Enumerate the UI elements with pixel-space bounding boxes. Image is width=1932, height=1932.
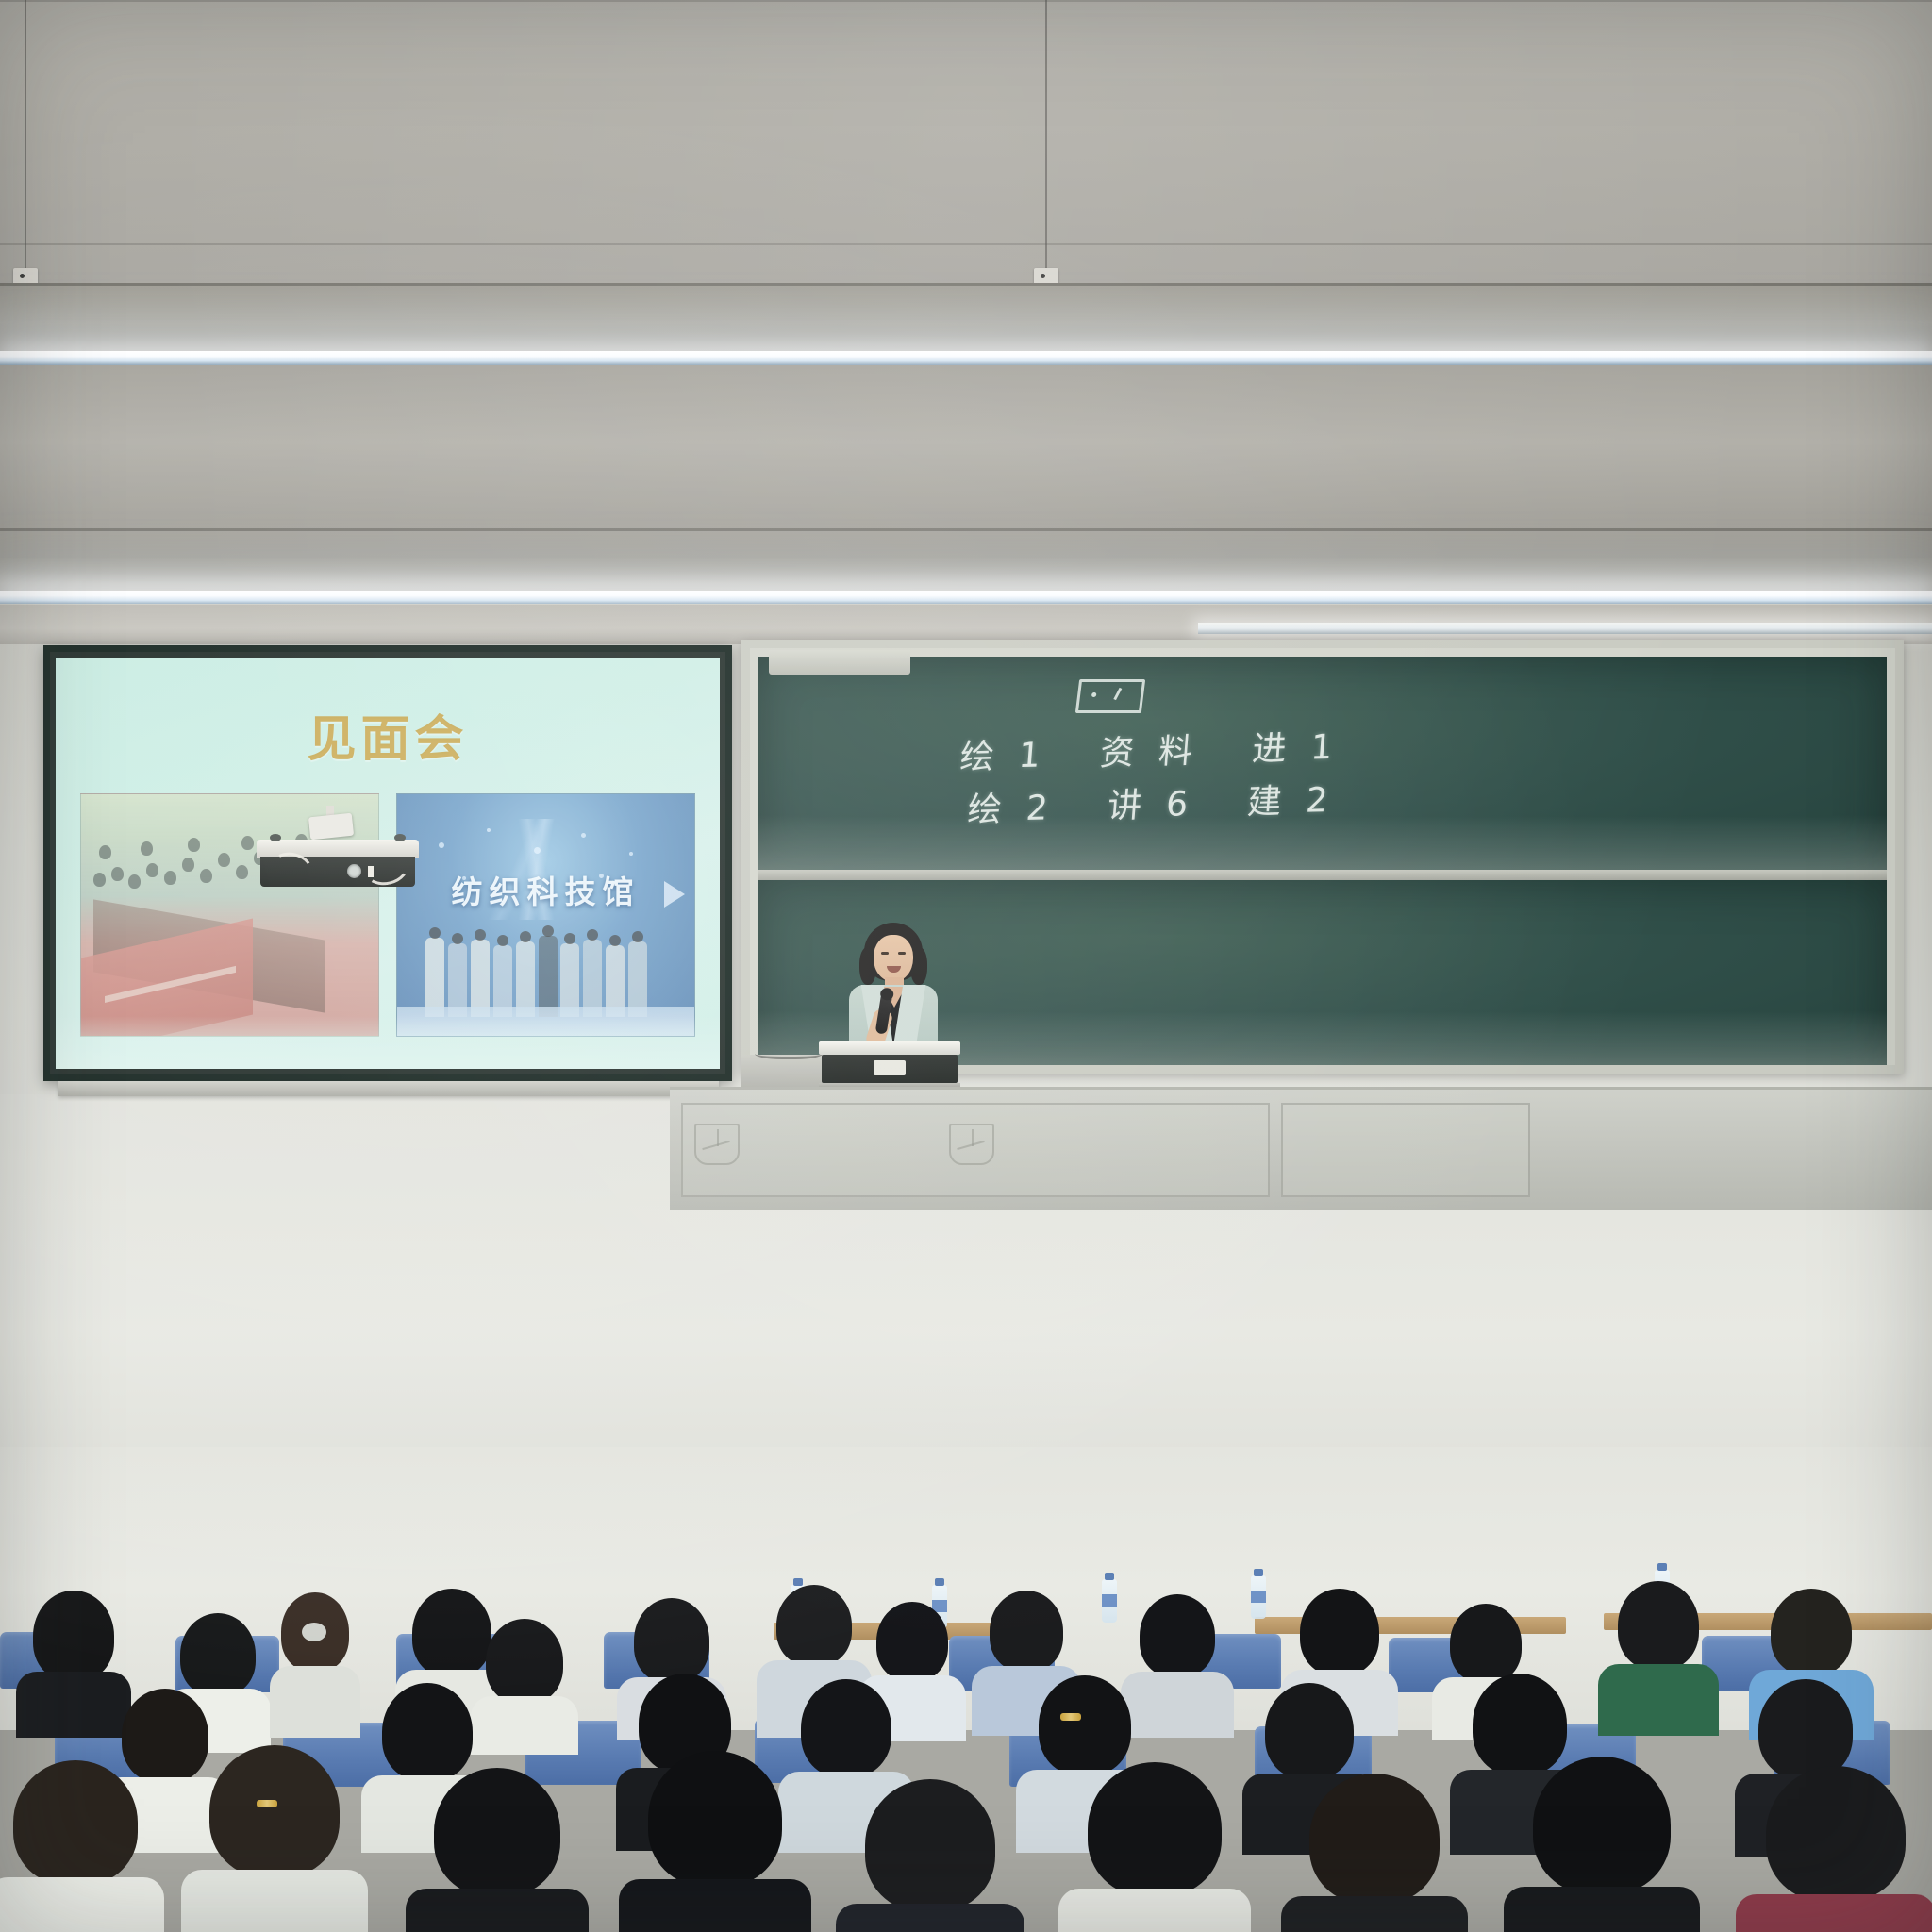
chalk-dust — [758, 815, 1887, 870]
fluorescent-light-strip — [0, 591, 1932, 605]
audience-member — [840, 1779, 1021, 1932]
audience-member — [1600, 1581, 1717, 1734]
beam-edge — [0, 283, 1932, 286]
audience-member — [185, 1745, 364, 1932]
podium-center-plate — [874, 1060, 906, 1075]
audience-member — [266, 1592, 364, 1734]
ceiling — [0, 0, 1932, 311]
speaker-eye — [898, 952, 906, 955]
museum-banner-text: 纺织科技馆 — [397, 867, 694, 912]
water-bottle — [1251, 1575, 1266, 1619]
ceiling-seam — [0, 243, 1932, 245]
stage-front-wall — [670, 1087, 1932, 1210]
fluorescent-light-strip — [0, 351, 1932, 365]
lecture-hall-photo: 见面会 — [0, 0, 1932, 1932]
projector-lens — [347, 864, 361, 878]
audience-member — [1507, 1757, 1696, 1932]
screen-bottom-rail — [58, 1081, 719, 1096]
hanging-wire — [1045, 0, 1047, 272]
speaker-person — [838, 923, 949, 1055]
audience-member — [1740, 1766, 1932, 1932]
projector-foot — [270, 834, 281, 841]
stage-panel — [1281, 1103, 1530, 1197]
projector-icon — [257, 830, 419, 887]
chalkboard-upper-panel: 绘1 资料 进1 绘2 讲6 建2 — [758, 657, 1887, 870]
equipment-cable — [755, 1045, 823, 1059]
audience-member — [1062, 1762, 1247, 1932]
audience-section — [0, 1447, 1932, 1932]
podium-top-surface — [819, 1041, 960, 1055]
ceiling-beam — [0, 283, 1932, 355]
chalkboard-slider-panel — [769, 650, 910, 675]
vent-grille-icon — [949, 1124, 994, 1165]
podium — [819, 1041, 960, 1091]
play-button-icon — [664, 881, 685, 908]
screen-sheen — [56, 1016, 720, 1069]
beam-edge — [0, 528, 1932, 531]
slide-photo-museum: 纺织科技馆 — [396, 793, 695, 1037]
speaker-mouth — [887, 966, 901, 973]
water-bottle — [1102, 1579, 1117, 1623]
chalk-text-line: 绘2 讲6 建2 — [966, 772, 1354, 832]
audience-member — [0, 1760, 160, 1932]
projector-foot — [394, 834, 406, 841]
hanging-wire — [25, 0, 26, 272]
projector-mount — [308, 813, 354, 841]
hair-clip-icon — [1060, 1713, 1081, 1721]
chalk-text-line: 绘1 资料 进1 — [958, 719, 1359, 779]
ceiling-seam — [0, 0, 1932, 2]
slide-title: 见面会 — [56, 699, 720, 770]
audience-member — [623, 1751, 808, 1932]
fluorescent-light-strip — [1198, 623, 1932, 634]
hair-clip-icon — [257, 1800, 277, 1807]
speaker-eye — [881, 952, 889, 955]
audience-member — [409, 1768, 585, 1932]
chalkboard-divider — [758, 870, 1887, 880]
museum-group-photo — [421, 920, 671, 1016]
speaker-face — [874, 935, 913, 982]
audience-member — [1285, 1774, 1464, 1932]
chalk-drawing-box — [1075, 679, 1145, 713]
vent-grille-icon — [694, 1124, 740, 1165]
